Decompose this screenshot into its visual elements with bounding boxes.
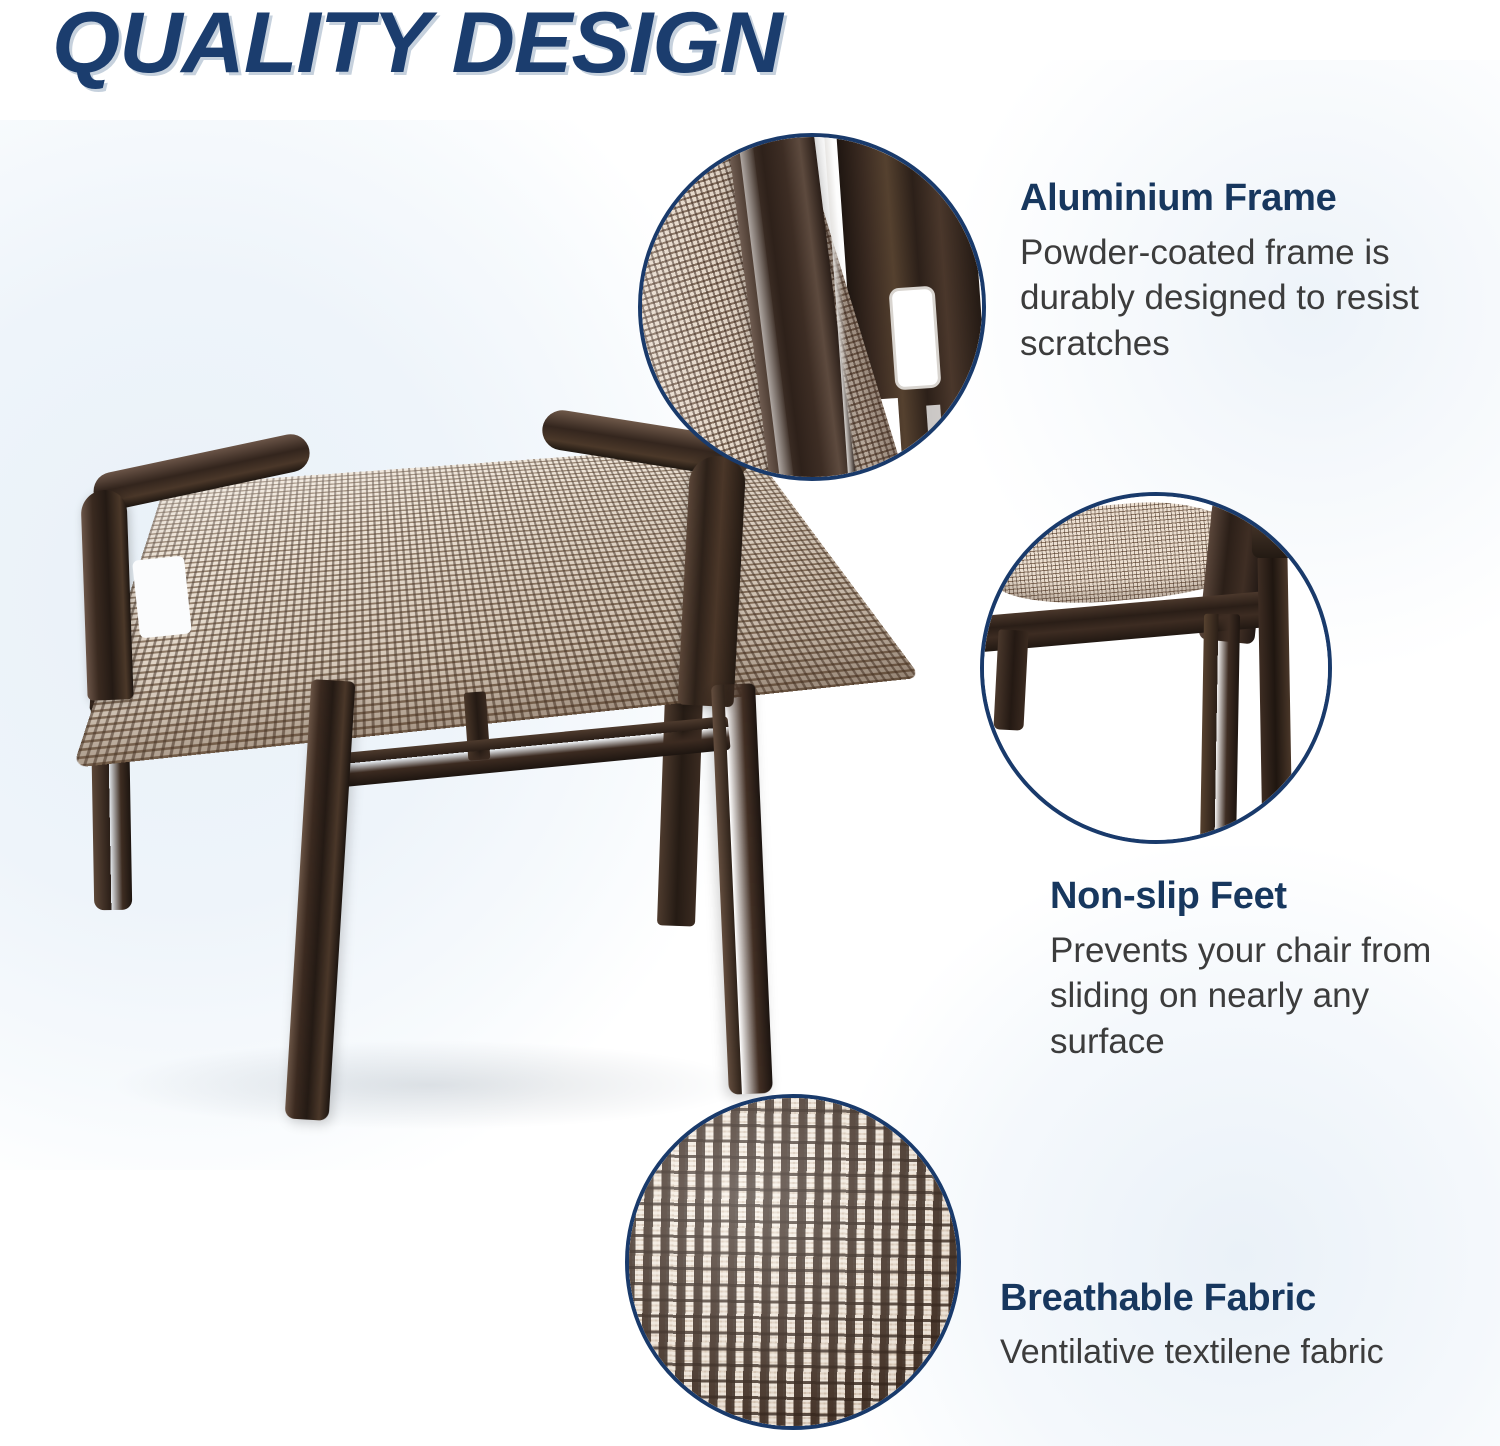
callout-circle-non-slip-feet bbox=[980, 492, 1332, 844]
frame-slot-opening bbox=[888, 286, 941, 391]
feature-description-non-slip-feet: Prevents your chair from sliding on near… bbox=[1050, 928, 1490, 1065]
feet-front-leg bbox=[1200, 614, 1240, 844]
feature-block-breathable-fabric: Breathable Fabric Ventilative textilene … bbox=[1000, 1278, 1500, 1374]
ottoman-seat-shading bbox=[73, 444, 921, 768]
feature-block-aluminium-frame: Aluminium Frame Powder-coated frame is d… bbox=[1020, 178, 1490, 366]
infographic-canvas: QUALITY DESIGN bbox=[0, 0, 1500, 1446]
feature-title-breathable-fabric: Breathable Fabric bbox=[1000, 1278, 1500, 1320]
callout-circle-breathable-fabric bbox=[625, 1094, 961, 1430]
feature-title-non-slip-feet: Non-slip Feet bbox=[1050, 876, 1490, 918]
feet-back-leg bbox=[993, 629, 1028, 730]
textilene-weave-shading bbox=[629, 1098, 957, 1426]
ottoman-frame-gap bbox=[132, 555, 192, 638]
feature-description-aluminium-frame: Powder-coated frame is durably designed … bbox=[1020, 230, 1490, 367]
page-title: QUALITY DESIGN bbox=[52, 0, 782, 93]
feature-block-non-slip-feet: Non-slip Feet Prevents your chair from s… bbox=[1050, 876, 1490, 1064]
callout-circle-aluminium-frame bbox=[638, 133, 986, 481]
feet-rear-post bbox=[1257, 556, 1292, 844]
product-ottoman-image bbox=[70, 440, 850, 1160]
feet-arm-slot bbox=[1280, 522, 1304, 550]
ottoman-front-right-leg bbox=[711, 683, 773, 1095]
feature-title-aluminium-frame: Aluminium Frame bbox=[1020, 178, 1490, 220]
feature-description-breathable-fabric: Ventilative textilene fabric bbox=[1000, 1330, 1500, 1374]
ottoman-left-rail bbox=[80, 489, 133, 700]
